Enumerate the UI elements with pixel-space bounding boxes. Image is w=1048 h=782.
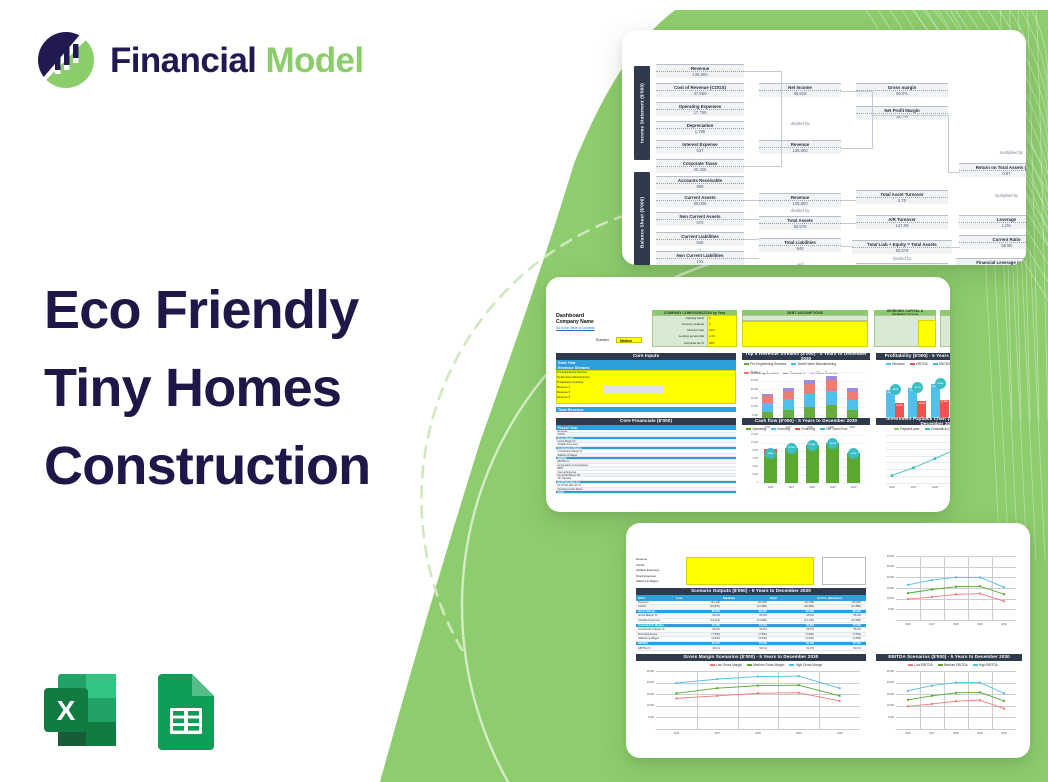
scenario-table-cell: 136,800: [817, 601, 861, 604]
config-row-1-label: Currency Analysis: [656, 323, 704, 326]
scenario-table-cell: 85,260: [676, 610, 720, 613]
legend-item: EBITDA: [910, 362, 928, 366]
y-tick-label: 0: [744, 482, 758, 484]
scenario-sheet: Revenue100.0%100.0%100.0%100.0%COGS(35.0…: [626, 523, 1030, 758]
hero-left-column: Financial Model Eco Friendly Tiny Homes …: [0, 0, 470, 782]
x-tick-label: 2026: [666, 732, 686, 735]
config-row-3-label: Lending service D/E: [656, 335, 704, 338]
node-accounts-receivable: Accounts Receivable998: [656, 176, 744, 190]
core-input-row-5: Revenue 6: [557, 396, 570, 399]
net-cash-bubble: 11,300: [807, 440, 818, 451]
bar-segment: [804, 380, 815, 384]
scenario-table-cell: (45,870): [676, 605, 720, 608]
page-title: Eco Friendly Tiny Homes Construction: [44, 272, 370, 505]
legend-item: Low Gross Margin: [710, 663, 742, 667]
scenario-table-row: EBITDA %48.1%50.1%51.0%50.1%: [636, 647, 866, 652]
brand-name-part1: Financial: [110, 41, 256, 80]
scenario-table-cell: 72,150: [676, 624, 720, 627]
scenario-table-cell: (7,550): [723, 633, 767, 636]
scenario-table-cell: 48.1%: [676, 647, 720, 650]
scenario-table-cell: 55.0%: [723, 628, 767, 631]
config-row-3-value[interactable]: 1.00: [709, 335, 714, 338]
scenario-table-cell: 131,130: [676, 601, 720, 604]
payback-legend: Payback yearCumulative Cash Invested (Op…: [894, 427, 950, 431]
legend-item: Pre-Engineering Services: [744, 362, 786, 366]
node-cogs: Cost of Revenue (COGS)47,880: [656, 83, 744, 97]
scenario-table-cell: (4,840): [770, 637, 814, 640]
assumption-label: Fixed Expenses: [636, 574, 656, 578]
scenario-table-cell: 50.1%: [723, 647, 767, 650]
dupont-tree: Income Statement ($'000) Balance Sheet (…: [634, 60, 1020, 251]
assumption-label: Revenue: [636, 557, 647, 561]
scenario-col-header: Medium: [723, 596, 735, 600]
legend-item: Payback year: [894, 427, 920, 431]
scenario-table-cell: 65.0%: [817, 614, 861, 617]
x-tick-label: 2029: [826, 486, 839, 489]
scenario-table-cell: 51.0%: [770, 647, 814, 650]
op-add: And: [759, 262, 841, 265]
bar-value-label: 15,535: [917, 403, 926, 405]
bar-revenue: [931, 384, 940, 419]
scenario-table-cell: (13,680): [723, 619, 767, 622]
brand-logo: Financial Model: [36, 30, 364, 90]
node-net-income: Net Income48,818: [759, 83, 841, 97]
y-tick-label: 18,000: [744, 397, 758, 400]
scenario-table-cell: 75,240: [723, 624, 767, 627]
node-roa: Return on Total Assets (ROA)0.97: [959, 163, 1026, 177]
assumption-label: Salaries & Wages: [636, 579, 658, 583]
scenario-table-cell: 55.0%: [770, 628, 814, 631]
scenario-table-cell: (49,890): [770, 605, 814, 608]
node-net-profit-margin: Net Profit Margin35.7%: [856, 106, 948, 120]
node-current-liabilities: Current Liabilities848: [656, 232, 744, 246]
core-input-row-2: Productivity Contracts: [557, 381, 583, 384]
config-row-1-value[interactable]: 0: [709, 323, 711, 326]
bar-segment: [783, 388, 794, 391]
x-tick-label: 2027: [785, 486, 798, 489]
scenario-table-cell: (4,840): [817, 637, 861, 640]
scenario-table-cell: (13,680): [817, 619, 861, 622]
payback-line: [882, 435, 950, 491]
scenario-table-cell: 142,480: [770, 601, 814, 604]
line-series: [640, 671, 864, 729]
card-scenario-analysis[interactable]: Revenue100.0%100.0%100.0%100.0%COGS(35.0…: [626, 523, 1030, 758]
scenario-table-cell: Variable Expenses: [638, 619, 676, 622]
op-multiplied-by-1: multiplied by: [959, 193, 1026, 198]
x-tick-label: 2028: [946, 732, 966, 735]
core-input-row-3: Revenue 4: [557, 386, 570, 389]
node-corporate-taxes: Corporate Taxes20,326: [656, 159, 744, 173]
profitability-legend: RevenueEBITDAEBITDA %: [886, 362, 950, 366]
ebitda-percent-bubble: 51.0%: [935, 378, 946, 389]
scenario-table-cell: (7,550): [676, 633, 720, 636]
op-divided-by-2: divided by: [759, 208, 841, 213]
panel-core-financials-header: Core Financials ($'000): [556, 418, 736, 425]
scenario-col-header: Low: [676, 596, 683, 600]
legend-item: High Gross Margin: [789, 663, 822, 667]
node-gross-margin: Gross margin65.0%: [856, 83, 948, 97]
legend-item: Medium EBITDA: [938, 663, 968, 667]
config-row-4-label: Corporate tax %: [656, 342, 704, 345]
x-tick-label: 2028: [946, 623, 966, 626]
key-outputs-block: [940, 315, 950, 347]
op-divided-by-1: divided by: [759, 121, 841, 126]
scenario-table-cell: 55.0%: [676, 628, 720, 631]
node-current-assets: Current Assets50,006: [656, 193, 744, 207]
x-tick-label: 2030: [830, 732, 850, 735]
node-opex: Operating Expenses17,758: [656, 102, 744, 116]
scenario-table-cell: Salaries & Wages: [638, 637, 676, 640]
x-tick-label: 2029: [970, 732, 990, 735]
op-divided-by-3: divided by: [852, 256, 952, 261]
panel-gross-margin-scenarios-header: Gross Margin Scenarios ($'000) - 5 Years…: [636, 654, 866, 661]
legend-item: Operating: [746, 427, 766, 431]
scenario-table-cell: 75,330: [817, 642, 861, 645]
svg-text:X: X: [57, 695, 76, 726]
panel-ebitda-scenarios-header: EBITDA Scenarios ($'000) - 5 Years to De…: [876, 654, 1022, 661]
bar-segment: [762, 396, 773, 403]
y-tick-label: 11,000: [744, 442, 758, 444]
headline-line-3: Construction: [44, 428, 370, 506]
node-ar-turnover: A/R Turnover137.09: [856, 215, 948, 229]
bar-segment: [804, 394, 815, 407]
bar-segment: [826, 391, 837, 405]
y-tick-label: 2,000: [744, 474, 758, 476]
scenario-table-cell: 65.0%: [676, 614, 720, 617]
legend-item: High EBITDA: [973, 663, 998, 667]
financial-model-circle-logo-icon: [36, 30, 96, 90]
scenario-trend-chart: -5,00010,00015,00020,00025,00030,0002026…: [880, 556, 1020, 634]
node-non-current-assets: Non Current Assets570: [656, 212, 744, 226]
brand-name-part2: Model: [265, 41, 363, 80]
scenario-label: Scenario: [596, 339, 609, 343]
x-tick-label: 2029: [950, 486, 951, 489]
core-inputs-total-row: Total Revenue: [556, 407, 736, 412]
x-tick-label: 2027: [907, 486, 921, 489]
scenario-table-cell: Contribution Margin: [638, 624, 676, 627]
headline-line-2: Tiny Homes: [44, 350, 370, 428]
card-dashboard[interactable]: Dashboard Company Name Go to the Table o…: [546, 277, 950, 512]
scenario-table-cell: (47,880): [723, 605, 767, 608]
scenario-table-cell: 62,067: [676, 642, 720, 645]
node-revenue-2: Revenue136,800: [759, 140, 841, 154]
cashflow-chart: 02,0004,0007,0009,00011,00013,0008,50020…: [744, 435, 868, 497]
panel-payback-header: Investment Payback Chart ($'000) - 5 Yea…: [876, 418, 950, 425]
scenario-table-cell: (7,550): [770, 633, 814, 636]
node-revenue-3: Revenue136,800: [759, 193, 841, 207]
scenario-table-cell: 92,590: [770, 610, 814, 613]
google-sheets-icon[interactable]: [150, 670, 222, 750]
panel-scenario-outputs-header: Scenario Outputs ($'000) - 5 Years to De…: [636, 588, 866, 595]
core-input-row-4: Revenue 5: [557, 391, 570, 394]
dashboard-company-name: Company Name: [556, 320, 594, 326]
x-tick-label: 2026: [885, 486, 899, 489]
x-tick-label: 2027: [922, 623, 942, 626]
config-row-0-value[interactable]: 0: [709, 317, 711, 320]
scenario-table-cell: 78,350: [770, 624, 814, 627]
bar-segment: [762, 394, 773, 397]
node-shareholders-equity: Shareholder's Equity869: [856, 263, 948, 265]
node-depreciation: Depreciation1,785: [656, 121, 744, 135]
scenario-table-cell: COGS: [638, 605, 676, 608]
node-interest-expense: Interest Expense537: [656, 140, 744, 154]
node-financial-leverage-multiplier: Financial Leverage multiplier63.22: [956, 258, 1026, 265]
y-tick-label: 4,000: [744, 466, 758, 468]
legend-item: Revenue: [886, 362, 905, 366]
panel-cashflow-header: Cash flow ($'000) - 5 Years to December …: [742, 418, 870, 425]
config-row-2-label: Discount rate: [656, 329, 704, 332]
scenario-table-cell: 65.0%: [723, 614, 767, 617]
x-tick-label: 2028: [806, 486, 819, 489]
scenario-table-cell: Fixed Expenses: [638, 633, 676, 636]
supported-apps: X: [38, 668, 222, 752]
legend-item: Low EBITDA: [908, 663, 932, 667]
scenario-table-cell: (4,840): [676, 637, 720, 640]
scenario-table-cell: EBITDA: [638, 642, 676, 645]
scenario-table-cell: Gross Margin: [638, 610, 676, 613]
assumption-label: COGS: [636, 563, 644, 567]
legend-item: Investing: [771, 427, 790, 431]
y-tick-label: 7,000: [744, 458, 758, 460]
node-total-liab-equity: Total Liab + Equity = Total Assets50,576: [852, 240, 952, 254]
line-series: [880, 556, 1020, 620]
x-tick-label: 2030: [994, 623, 1014, 626]
scenario-selector[interactable]: Medium: [616, 337, 642, 343]
microsoft-excel-icon[interactable]: X: [38, 668, 122, 752]
bar-value-label: 13,800: [895, 405, 904, 407]
scenario-table-cell: Revenue: [638, 601, 676, 604]
y-tick-label: 13,000: [744, 434, 758, 436]
x-tick-label: 2029: [789, 732, 809, 735]
x-tick-label: 2026: [764, 486, 777, 489]
assumptions-input-block[interactable]: [686, 557, 814, 585]
y-tick-label: 24,000: [744, 388, 758, 391]
scenario-table-cell: EBITDA %: [638, 647, 676, 650]
bar-segment: [804, 384, 815, 394]
y-tick-label: 12,000: [744, 405, 758, 408]
card-dupont-analysis[interactable]: Income Statement ($'000) Balance Sheet (…: [622, 30, 1026, 265]
x-tick-label: 2029: [970, 623, 990, 626]
y-tick-label: 9,000: [744, 450, 758, 452]
bar-operating: [826, 443, 839, 483]
x-tick-label: 2026: [898, 623, 918, 626]
scenario-table-cell: 65.0%: [770, 614, 814, 617]
y-tick-label: 36,000: [744, 371, 758, 374]
legend-item: Medium Gross Margin: [747, 663, 785, 667]
brand-name: Financial Model: [110, 43, 364, 78]
bar-segment: [826, 376, 837, 381]
scenario-table-cell: 136,800: [723, 601, 767, 604]
legend-item: Net Cash Flow: [820, 427, 847, 431]
x-tick-label: 2028: [748, 732, 768, 735]
x-tick-label: 2028: [928, 486, 942, 489]
legend-item: Cumulative Cash Invested (Opex): [925, 427, 951, 431]
ebitda-chart: -5,00010,00015,00020,00025,0002026202720…: [880, 671, 1020, 743]
gross-margin-chart: -5,00010,00015,00020,00025,0002026202720…: [640, 671, 864, 743]
scenario-table-cell: 50.1%: [817, 647, 861, 650]
core-inputs-blank-region: [604, 385, 664, 394]
working-capital-inputs[interactable]: [918, 320, 936, 347]
payback-chart: 08,00016,00024,00031,00039,00047,00055,0…: [882, 435, 950, 497]
debt-inputs-block[interactable]: [742, 321, 868, 347]
scenario-table-cell: 55.0%: [817, 628, 861, 631]
dashboard-sheet: Dashboard Company Name Go to the Table o…: [546, 277, 950, 512]
net-cash-bubble: 10,700: [786, 443, 797, 454]
node-non-current-liabilities: Non Current Liabilities101: [656, 251, 744, 265]
scenario-table-cell: 78,100: [770, 642, 814, 645]
bar-segment: [847, 400, 858, 410]
assumptions-active-block: [822, 557, 866, 585]
assumption-label: Variable Expenses: [636, 568, 659, 572]
scenario-table-cell: Contribution Margin %: [638, 628, 676, 631]
bar-segment: [847, 392, 858, 400]
scenario-table-cell: 88,920: [817, 610, 861, 613]
line-series: [880, 671, 1020, 729]
y-tick-label: 6,000: [744, 414, 758, 417]
legend-item: Financing: [795, 427, 815, 431]
scenario-table-cell: (4,840): [723, 637, 767, 640]
x-tick-label: 2027: [922, 732, 942, 735]
ebitda-percent-bubble: 50.1%: [912, 382, 923, 393]
scenario-table-cell: 75,240: [817, 624, 861, 627]
bar-segment: [783, 399, 794, 410]
node-total-asset-turnover: Total Asset Turnover2.70: [856, 190, 948, 204]
bar-segment: [847, 388, 858, 391]
cashflow-legend: OperatingInvestingFinancingNet Cash Flow: [746, 427, 870, 431]
scenario-table-cell: (7,550): [817, 633, 861, 636]
core-financials-row-label: Cash: [558, 491, 564, 494]
y-tick-label: 30,000: [744, 379, 758, 382]
x-tick-label: 2030: [994, 732, 1014, 735]
core-input-row-1: Small Home Manufacturing: [557, 376, 589, 379]
scenario-table-cell: 75,330: [723, 642, 767, 645]
node-total-assets: Total Assets50,576: [759, 216, 841, 230]
headline-line-1: Eco Friendly: [44, 272, 370, 350]
x-tick-label: 2027: [707, 732, 727, 735]
scenario-table-cell: (14,240): [770, 619, 814, 622]
band-balance-sheet: Balance Sheet ($'000): [634, 172, 650, 265]
node-revenue: Revenue136,800: [656, 64, 744, 78]
scenario-col-header: KPIs: [638, 596, 645, 600]
ebitda-percent-bubble: 48.1%: [890, 384, 901, 395]
node-current-ratio: Current Ratio58.98: [959, 235, 1026, 249]
scenario-table-cell: (13,110): [676, 619, 720, 622]
panel-profitability-header: Profitability ($'000) - 5 Years to Decem…: [876, 353, 950, 360]
scenario-col-header: Active (Medium): [817, 596, 842, 600]
op-multiplied-by-2: multiplied by: [964, 150, 1026, 155]
config-row-2-value[interactable]: 10%: [709, 329, 715, 332]
scenario-table-cell: (47,880): [817, 605, 861, 608]
node-total-liabilities: Total Liabilities949: [759, 238, 841, 252]
core-input-row-0: Pre-Engineering Services: [557, 371, 587, 374]
scenario-table-cell: Gross Margin %: [638, 614, 676, 617]
bar-value-label: 17,050: [940, 401, 949, 403]
dashboard-toc-link[interactable]: Go to the Table of Contents: [556, 327, 595, 331]
legend-item: Small Home Manufacturing: [791, 362, 836, 366]
scenario-col-header: High: [770, 596, 777, 600]
x-tick-label: 2030: [847, 486, 860, 489]
bar-segment: [762, 403, 773, 412]
panel-revenue-streams-header: Top 5 Revenue Streams ($'000) - 5 Years …: [742, 353, 870, 360]
config-row-4-value[interactable]: 20%: [709, 342, 715, 345]
scenario-table-cell: 88,920: [723, 610, 767, 613]
core-financials-row: Cash: [556, 491, 736, 494]
panel-core-inputs-header: Core Inputs: [556, 353, 736, 360]
config-row-0-label: Opening Stock: [656, 317, 704, 320]
x-tick-label: 2026: [898, 732, 918, 735]
band-income-statement: Income Statement ($'000): [634, 66, 650, 160]
bar-segment: [783, 391, 794, 399]
legend-item: EBITDA %: [933, 362, 950, 366]
gross-margin-legend: Low Gross MarginMedium Gross MarginHigh …: [666, 663, 866, 667]
node-leverage: Leverage1.0%: [959, 215, 1026, 229]
ebitda-legend: Low EBITDAMedium EBITDAHigh EBITDA: [888, 663, 1018, 667]
bar-segment: [826, 380, 837, 391]
